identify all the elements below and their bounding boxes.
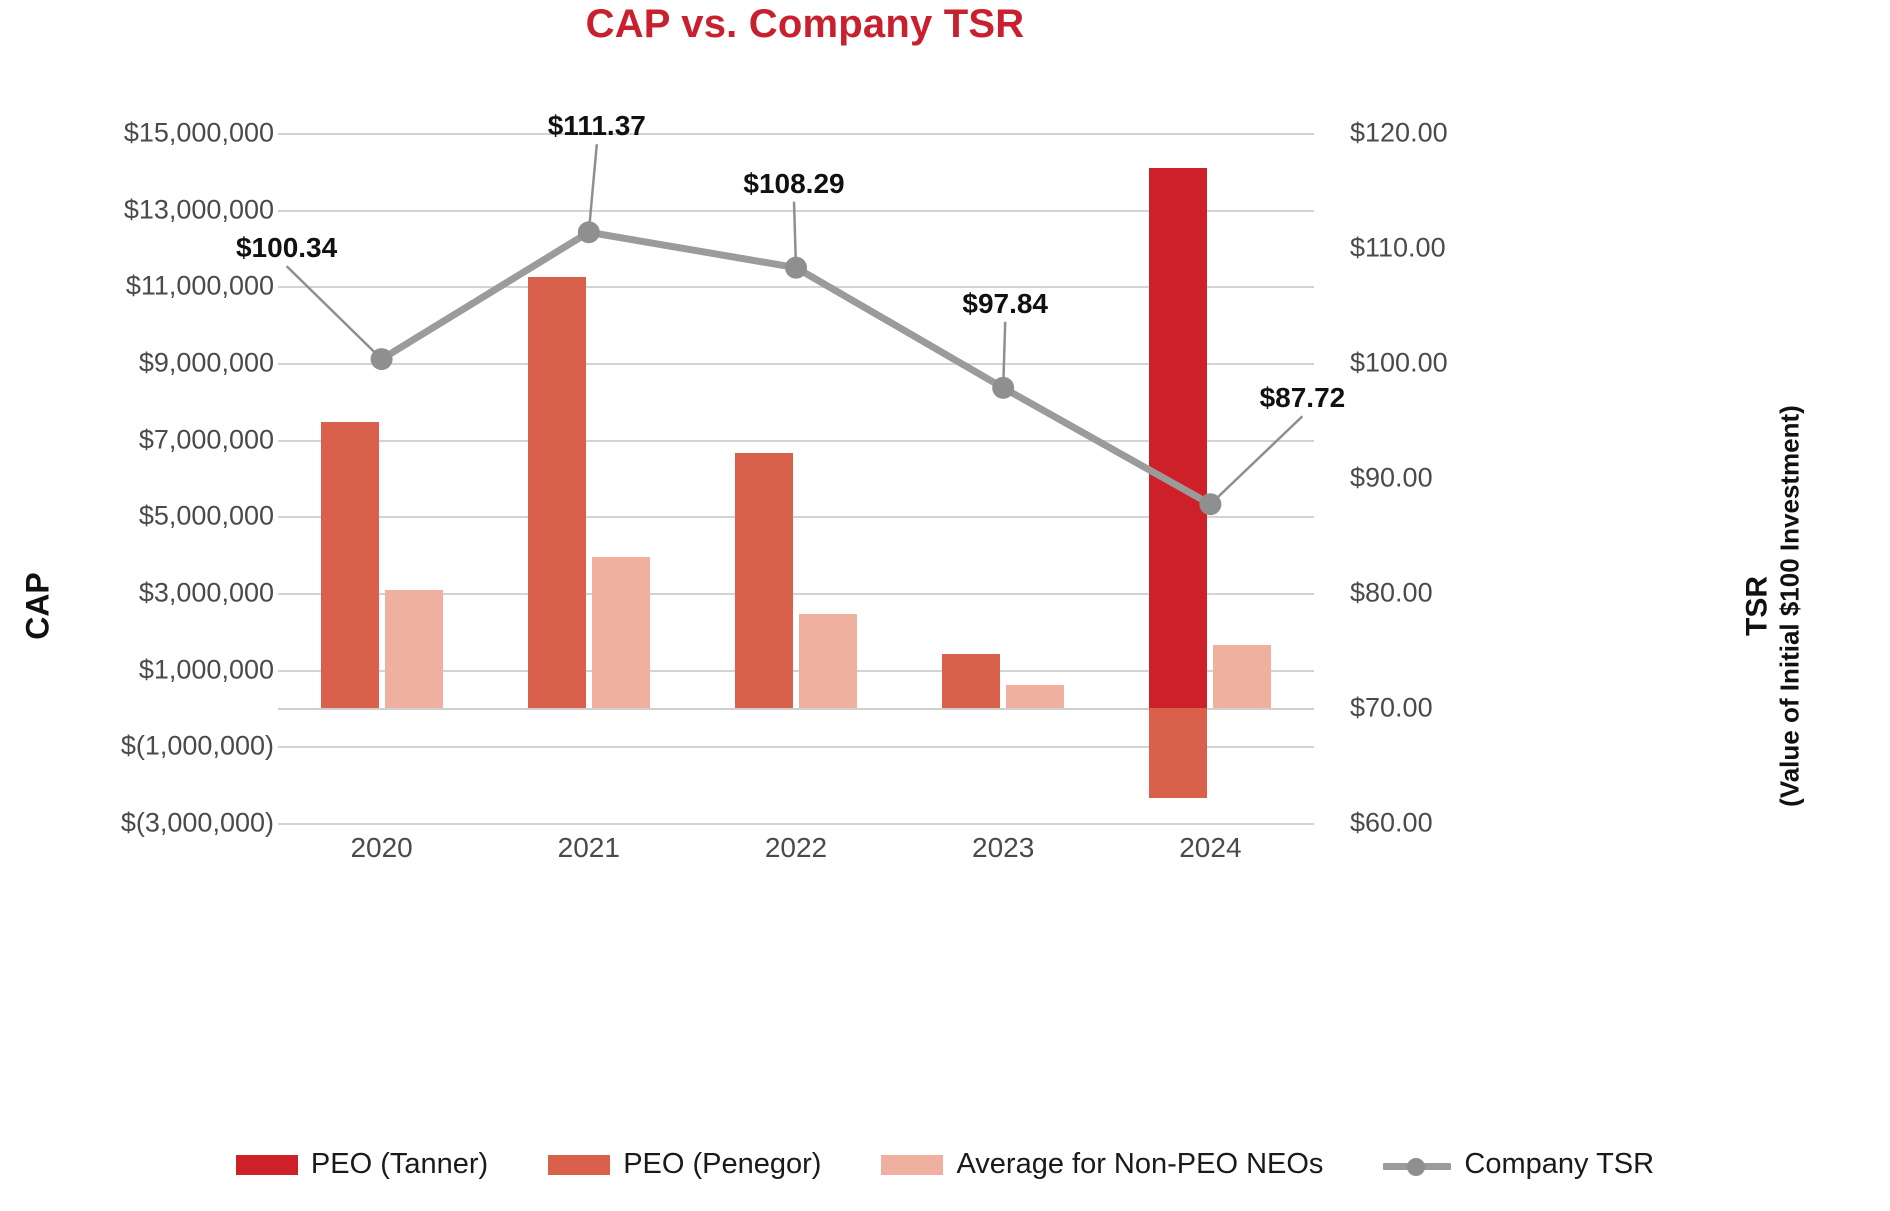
y-axis-right-title-line1: TSR — [1741, 405, 1776, 807]
x-axis-tick-label: 2022 — [706, 832, 886, 864]
y-axis-left-tick-label: $(1,000,000) — [24, 731, 274, 762]
bar-peo-penegor[interactable] — [735, 453, 793, 708]
y-axis-left-tick-label: $1,000,000 — [24, 654, 274, 685]
legend-swatch-icon — [236, 1155, 298, 1175]
legend-item[interactable]: PEO (Penegor) — [548, 1148, 821, 1181]
bar-avg-non-peo-neos[interactable] — [592, 557, 650, 708]
legend-label: PEO (Penegor) — [623, 1148, 821, 1181]
legend-label: Company TSR — [1464, 1148, 1654, 1181]
tsr-data-label: $108.29 — [743, 168, 844, 200]
gridline — [278, 823, 1314, 825]
legend-swatch-icon — [881, 1155, 943, 1175]
x-axis-tick-label: 2020 — [292, 832, 472, 864]
x-axis-tick-label: 2023 — [913, 832, 1093, 864]
y-axis-right-title-line2: (Value of Initial $100 Investment) — [1775, 405, 1805, 807]
tsr-data-label: $100.34 — [236, 232, 337, 264]
bar-avg-non-peo-neos[interactable] — [385, 590, 443, 708]
tsr-label-leader-line — [287, 266, 382, 359]
tsr-label-leader-line — [589, 144, 597, 232]
chart-title: CAP vs. Company TSR — [0, 2, 1610, 47]
y-axis-left-tick-label: $9,000,000 — [24, 348, 274, 379]
plot-area — [278, 133, 1314, 823]
chart-container: CAP vs. Company TSR CAP TSR (Value of In… — [0, 0, 1890, 1211]
bar-avg-non-peo-neos[interactable] — [1213, 645, 1271, 708]
x-axis-tick-label: 2024 — [1120, 832, 1300, 864]
tsr-label-leader-line — [1210, 416, 1302, 504]
y-axis-left-tick-label: $7,000,000 — [24, 424, 274, 455]
tsr-data-label: $87.72 — [1260, 382, 1346, 414]
legend-item[interactable]: PEO (Tanner) — [236, 1148, 488, 1181]
y-axis-right-tick-label: $60.00 — [1350, 808, 1550, 839]
legend-label: Average for Non-PEO NEOs — [956, 1148, 1323, 1181]
bar-avg-non-peo-neos[interactable] — [1006, 685, 1064, 708]
y-axis-right-tick-label: $100.00 — [1350, 348, 1550, 379]
bar-avg-non-peo-neos[interactable] — [799, 614, 857, 708]
tsr-line — [382, 232, 1211, 504]
tsr-point-marker[interactable] — [992, 377, 1014, 399]
legend-item[interactable]: Company TSR — [1383, 1148, 1654, 1181]
tsr-point-marker[interactable] — [371, 348, 393, 370]
tsr-point-marker[interactable] — [578, 221, 600, 243]
y-axis-left-tick-label: $3,000,000 — [24, 578, 274, 609]
y-axis-right-tick-label: $70.00 — [1350, 693, 1550, 724]
legend-label: PEO (Tanner) — [311, 1148, 488, 1181]
y-axis-right-title: TSR (Value of Initial $100 Investment) — [1741, 405, 1805, 807]
y-axis-right-tick-label: $90.00 — [1350, 463, 1550, 494]
bar-peo-penegor[interactable] — [1149, 708, 1207, 798]
bar-peo-penegor[interactable] — [528, 277, 586, 708]
bar-peo-tanner[interactable] — [1149, 168, 1207, 709]
tsr-data-label: $111.37 — [548, 110, 646, 142]
y-axis-right-tick-label: $110.00 — [1350, 233, 1550, 264]
y-axis-left-tick-label: $5,000,000 — [24, 501, 274, 532]
gridline — [278, 133, 1314, 135]
tsr-label-leader-line — [1003, 322, 1005, 388]
bar-peo-penegor[interactable] — [321, 422, 379, 708]
x-axis-tick-label: 2021 — [499, 832, 679, 864]
y-axis-left-tick-label: $15,000,000 — [24, 118, 274, 149]
bar-peo-penegor[interactable] — [942, 654, 1000, 708]
tsr-data-label: $97.84 — [962, 288, 1048, 320]
y-axis-left-tick-label: $(3,000,000) — [24, 808, 274, 839]
y-axis-right-tick-label: $80.00 — [1350, 578, 1550, 609]
chart-legend: PEO (Tanner)PEO (Penegor)Average for Non… — [0, 1148, 1890, 1181]
legend-swatch-icon — [548, 1155, 610, 1175]
tsr-point-marker[interactable] — [785, 257, 807, 279]
y-axis-right-tick-label: $120.00 — [1350, 118, 1550, 149]
y-axis-left-tick-label: $13,000,000 — [24, 194, 274, 225]
legend-line-marker-icon — [1383, 1155, 1451, 1175]
y-axis-left-tick-label: $11,000,000 — [24, 271, 274, 302]
legend-item[interactable]: Average for Non-PEO NEOs — [881, 1148, 1323, 1181]
